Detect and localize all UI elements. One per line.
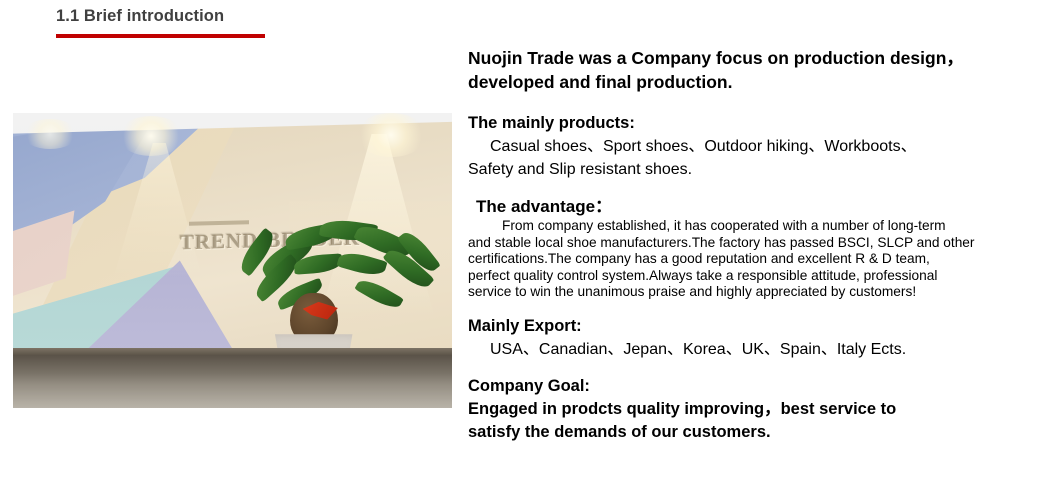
spacer bbox=[468, 183, 1008, 195]
advantage-block: The advantage： From company established,… bbox=[468, 195, 1008, 301]
products-block: The mainly products: Casual shoes、Sport … bbox=[468, 112, 1008, 181]
export-heading: Mainly Export: bbox=[468, 315, 1008, 338]
goal-line-2: satisfy the demands of our customers. bbox=[468, 421, 1008, 444]
export-line-1: USA、Canadian、Jepan、Korea、UK、Spain、Italy … bbox=[468, 338, 1008, 361]
page-title: 1.1 Brief introduction bbox=[56, 5, 476, 27]
advantage-line-2: and stable local shoe manufacturers.The … bbox=[468, 235, 1008, 252]
spacer bbox=[468, 303, 1008, 315]
photo-spotlight-center bbox=[118, 116, 184, 156]
section-heading: 1.1 Brief introduction bbox=[56, 5, 476, 38]
advantage-line-4: perfect quality control system.Always ta… bbox=[468, 268, 1008, 285]
goal-line-1: Engaged in prodcts quality improving，bes… bbox=[468, 398, 1008, 421]
photo-floor-reflection bbox=[13, 373, 452, 408]
company-introduction-text: Nuojin Trade was a Company focus on prod… bbox=[468, 46, 1008, 446]
advantage-line-1: From company established, it has coopera… bbox=[468, 218, 1008, 235]
advantage-heading: The advantage： bbox=[468, 195, 1008, 218]
export-block: Mainly Export: USA、Canadian、Jepan、Korea、… bbox=[468, 315, 1008, 361]
office-lobby-photo: TREND-BENDER bbox=[13, 113, 452, 408]
goal-heading: Company Goal: bbox=[468, 375, 1008, 398]
heading-underline-rule bbox=[56, 34, 265, 38]
products-heading: The mainly products: bbox=[468, 112, 1008, 135]
lead-paragraph: Nuojin Trade was a Company focus on prod… bbox=[468, 46, 1008, 94]
advantage-line-5: service to win the unanimous praise and … bbox=[468, 284, 1008, 301]
photo-spotlight-right bbox=[355, 113, 427, 157]
goal-block: Company Goal: Engaged in prodcts quality… bbox=[468, 375, 1008, 444]
advantage-line-3: certifications.The company has a good re… bbox=[468, 251, 1008, 268]
products-line-2: Safety and Slip resistant shoes. bbox=[468, 158, 1008, 181]
products-line-1: Casual shoes、Sport shoes、Outdoor hiking、… bbox=[468, 135, 1008, 158]
spacer bbox=[468, 363, 1008, 375]
photo-spotlight-left bbox=[22, 119, 78, 149]
